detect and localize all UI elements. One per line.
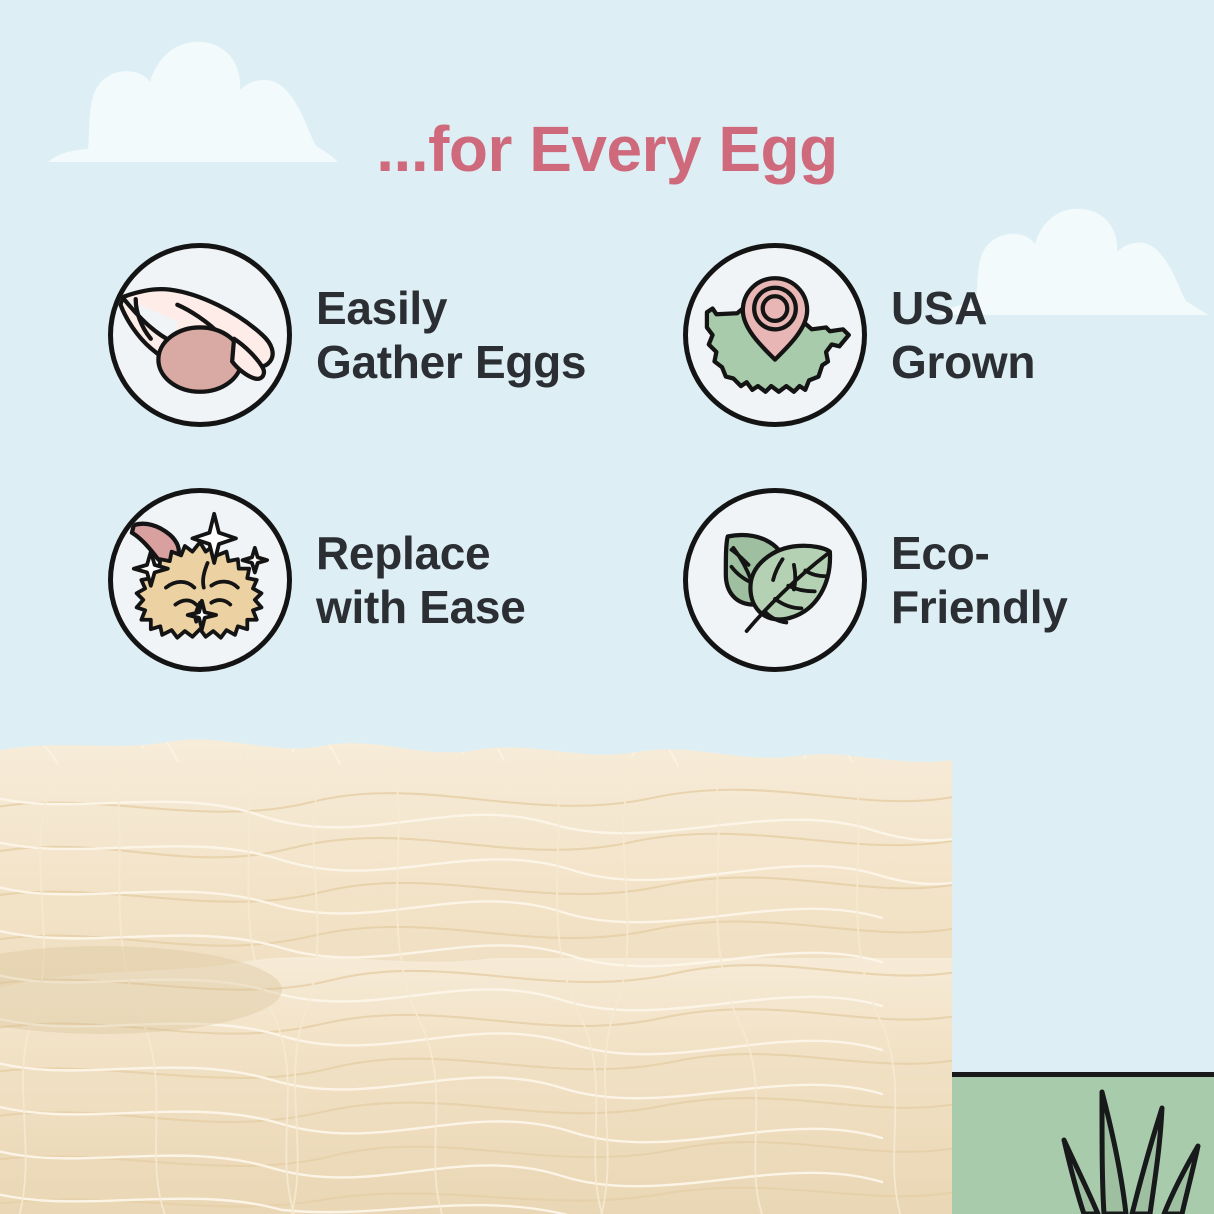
feature-easily-gather-eggs[interactable]: Easily Gather Eggs (108, 243, 586, 427)
feature-label: Replace with Ease (316, 526, 526, 635)
brown-eggs-in-excelsior-nest-photo (0, 690, 952, 1214)
feature-usa-grown[interactable]: USA Grown (683, 243, 1035, 427)
feature-row-1: Easily Gather Eggs USA Grown (0, 243, 1214, 488)
grass-blades-icon (1040, 1078, 1214, 1214)
feature-label: USA Grown (891, 281, 1035, 390)
leaves-icon (683, 488, 867, 672)
feature-eco-friendly[interactable]: Eco- Friendly (683, 488, 1068, 672)
promo-graphic: ...for Every Egg (0, 0, 1214, 1214)
usa-map-pin-icon (683, 243, 867, 427)
page-title: ...for Every Egg (0, 112, 1214, 186)
feature-label: Easily Gather Eggs (316, 281, 586, 390)
feature-grid: Easily Gather Eggs USA Grown (0, 243, 1214, 733)
feature-label: Eco- Friendly (891, 526, 1068, 635)
hand-gathering-egg-icon (108, 243, 292, 427)
fresh-nesting-pad-icon (108, 488, 292, 672)
feature-replace-with-ease[interactable]: Replace with Ease (108, 488, 526, 672)
